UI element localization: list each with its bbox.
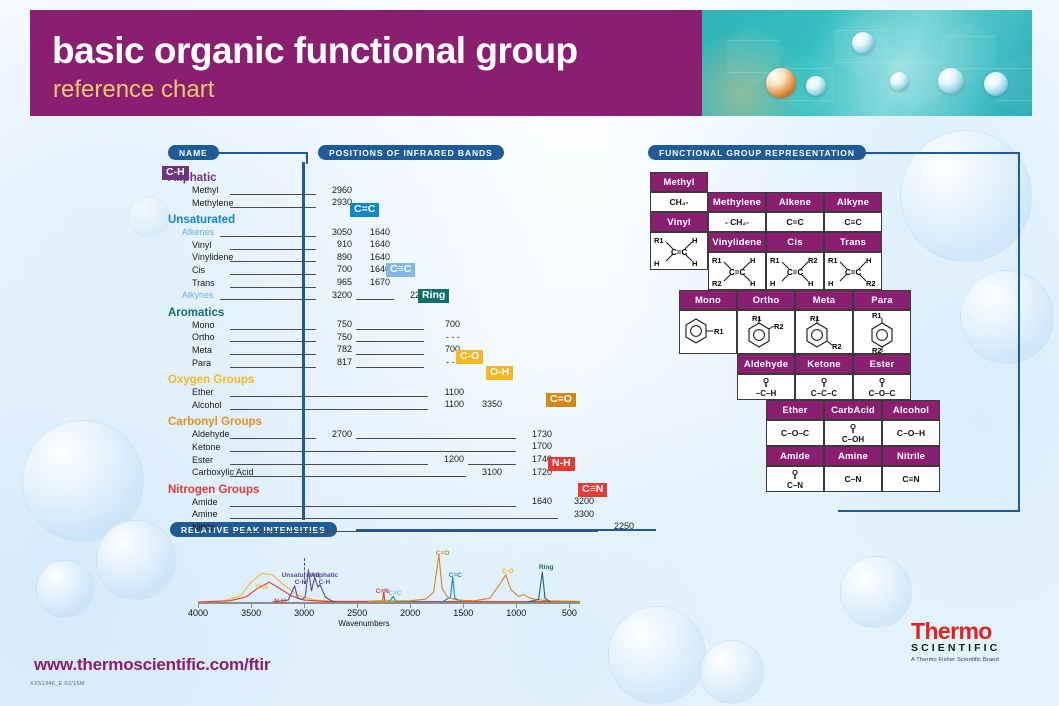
ir-badge-c_o: C=O [546,393,576,407]
spectrum-tick-label: 1500 [453,608,473,618]
svg-text:R1: R1 [752,314,762,323]
alkene-structure-icon: R1R2HHC=C [768,254,822,288]
ir-leader-line [230,194,316,195]
svg-text:H: H [750,279,755,288]
decor-bubble [22,420,144,542]
spectrum-annotation: O-H [256,584,268,591]
spectrum-tick-label: 3500 [241,608,261,618]
fg-structure-methylene: - CH₂- [708,212,766,232]
svg-text:R2: R2 [832,342,842,351]
carbonyl-base-label: C–C–C [811,389,837,398]
svg-text:H: H [692,236,697,245]
ir-leader-line [468,464,516,465]
ir-row: Vinyl9101640 [168,240,623,253]
spectrum-tick-label: 1000 [506,608,526,618]
fg-header-ketone: Ketone [795,354,853,374]
fg-struct-methyl: CH₃- [669,197,688,207]
ir-value: 700 [426,319,460,329]
spectrum-tick-label: 3000 [294,608,314,618]
ir-group-title: Unsaturated [168,213,623,227]
spectrum-tick-label: 500 [562,608,577,618]
spectrum-annotation: C-O [502,568,514,575]
svg-text:C=C: C=C [729,268,745,277]
ir-value: 817 [318,357,352,367]
ir-value: - - - [426,332,460,342]
carbonyl-base-label: C–OH [842,435,864,444]
poster-root: basic organic functional group reference… [0,0,1059,706]
aldehyde-structure-icon: O‖–C–H [756,377,776,398]
fg-struct-alkene: C=C [786,217,803,227]
fg-header-alcohol: Alcohol [882,400,940,420]
carbonyl-base-label: C–O–C [869,389,896,398]
ir-value: 1640 [356,252,390,262]
thermo-scientific-logo: Thermo SCIENTIFIC A Thermo Fisher Scient… [911,620,1031,663]
fg-structure-ether: C–O–C [766,420,824,446]
rail-ir-vertical-right [306,152,308,164]
spectrum-axis-line [198,602,580,604]
ir-group-title: Aromatics [168,306,623,320]
ir-value: 1640 [518,496,552,506]
molecule-sphere-icon [766,68,796,98]
ir-value: 3200 [318,290,352,300]
fg-header-vinyl: Vinyl [650,212,708,232]
ir-row-name: Alkynes [182,290,214,300]
fg-label-amide: Amide [780,451,810,462]
svg-text:H: H [828,279,833,288]
ketone-structure-icon: O‖C–C–C [811,377,837,398]
ir-value: 1640 [356,227,390,237]
ir-leader-line [230,518,558,519]
fg-label-meta: Meta [813,295,835,306]
brand-subname: SCIENTIFIC [911,642,1031,654]
ir-leader-line [356,341,424,342]
fg-struct-methylene: - CH₂- [725,217,749,227]
svg-text:R1: R1 [810,314,820,323]
ir-value: 3050 [318,227,352,237]
ir-value: 3100 [468,467,502,477]
ir-badge-cc2: C=C [350,203,379,217]
rail-fg-right [1018,152,1020,512]
svg-text:H: H [654,259,659,268]
ir-leader-line [230,207,316,208]
ir-bands-table: AliphaticMethyl2960Methylene2930Unsatura… [168,168,623,534]
amide-structure-icon: O‖C–N [787,469,803,490]
fg-structure-meta: R1R2 [795,310,853,354]
ir-leader-line [230,451,516,452]
ir-leader-line [230,396,428,397]
fg-label-amine: Amine [838,451,868,462]
ir-row: Methylene2930 [168,198,623,211]
ir-value: 2960 [318,185,352,195]
ir-value: 1100 [430,399,464,409]
ir-value: 700 [426,344,460,354]
fg-header-ortho: Ortho [737,290,795,310]
spectrum-annotation: C=O [436,550,450,557]
spectrum-annotation: C≡N [376,588,389,595]
ir-badge-oh: O-H [486,366,513,380]
nitrile-structure-icon: C≡N [902,474,919,484]
ir-badge-co: C-O [456,350,483,364]
ir-row-name: Para [192,358,211,368]
ir-value: 1200 [430,454,464,464]
ir-leader-line [230,261,316,262]
benzene-para-icon: R1R2 [862,310,902,354]
ir-value: 1640 [356,239,390,249]
svg-text:C=C: C=C [671,248,687,257]
ir-row-name: Vinylidene [192,252,233,262]
ir-leader-line [230,367,316,368]
ir-group-title: Carbonyl Groups [168,415,623,429]
svg-text:R2: R2 [808,256,818,265]
fg-structure-nitrile: C≡N [882,466,940,492]
ir-leader-line [230,409,428,410]
fg-structure-alkyne: C≡C [824,212,882,232]
ir-row: Nitrile2250 [168,522,623,535]
svg-text:R2: R2 [872,346,882,354]
ester-structure-icon: O‖C–O–C [869,377,896,398]
ir-row-name: Meta [192,345,212,355]
svg-text:R1: R1 [654,236,664,245]
molecule-sphere-icon [938,68,964,94]
ir-value: 750 [318,319,352,329]
spectrum-tick-label: 4000 [188,608,208,618]
fg-structure-alcohol: C–O–H [882,420,940,446]
fg-header-vinylidene: Vinylidene [708,232,766,252]
fg-structure-vinylidene: R1HR2HC=C [708,252,766,290]
decor-bubble [900,130,1032,262]
alkene-structure-icon: R1HR2HC=C [710,254,764,288]
relative-peak-intensities-chart: 4000350030002500200015001000500 Wavenumb… [168,540,598,622]
fg-structure-methyl: CH₃- [650,192,708,212]
fg-header-ether: Ether [766,400,824,420]
fg-label-para: Para [871,295,892,306]
svg-text:R1: R1 [872,311,882,320]
svg-text:H: H [692,259,697,268]
ir-leader-line [230,249,316,250]
fg-header-methyl: Methyl [650,172,708,192]
molecule-sphere-icon [806,76,826,96]
ir-value: 3200 [560,496,594,506]
ir-leader-line [220,299,316,300]
svg-text:R1: R1 [828,256,838,265]
decor-bubble [700,640,764,704]
ir-value: 700 [318,264,352,274]
ir-leader-line [230,354,316,355]
section-title-fg-representation: Functional Group Representation [648,145,866,160]
ir-value: 1700 [518,441,552,451]
ir-row-name: Ketone [192,442,221,452]
fg-label-alkene: Alkene [779,197,811,208]
page-header: basic organic functional group reference… [30,10,1032,116]
ir-row: Aldehyde27001730 [168,429,623,442]
ir-value: 890 [318,252,352,262]
ir-row: Para817- - - [168,358,623,371]
ir-row-name: Methyl [192,185,219,195]
ir-value: 2250 [600,521,634,531]
annotation-line2: C-H [311,579,338,586]
molecule-sphere-icon [984,72,1008,96]
fg-structure-ester: O‖C–O–C [853,374,911,400]
ir-leader-line [230,274,316,275]
svg-text:H: H [770,279,775,288]
fg-structure-mono: R1 [679,310,737,354]
svg-text:R1: R1 [770,256,780,265]
fg-header-amide: Amide [766,446,824,466]
fg-structure-ortho: R1R2 [737,310,795,354]
ir-leader-line [220,236,316,237]
svg-text:H: H [808,279,813,288]
spectrum-axis-label: Wavenumbers [338,619,389,628]
spectrum-3000-divider [304,558,305,584]
ir-value: 1670 [356,277,390,287]
ir-row: Meta782700 [168,345,623,358]
fg-structure-carbacid: O‖C–OH [824,420,882,446]
ir-row-name: Ester [192,455,213,465]
spectrum-annotation: AliphaticC-H [311,572,338,586]
fg-header-meta: Meta [795,290,853,310]
fg-label-methylene: Methylene [713,197,761,208]
document-code: XX51346_E 02/15M [30,681,85,687]
ir-leader-line [230,506,516,507]
ir-value: 1730 [518,429,552,439]
fg-label-vinylidene: Vinylidene [712,237,761,248]
decor-bubble [128,196,170,238]
svg-text:R2: R2 [712,279,722,288]
fg-label-nitrile: Nitrile [897,451,925,462]
spectrum-annotation: C≡C [388,590,401,597]
fg-label-ether: Ether [782,405,807,416]
ir-leader-line [230,531,598,532]
ir-leader-line [230,438,316,439]
header-teal-art [702,10,1032,116]
fg-header-methylene: Methylene [708,192,766,212]
website-url[interactable]: www.thermoscientific.com/ftir [34,655,270,675]
ir-value: 782 [318,344,352,354]
fg-header-para: Para [853,290,911,310]
rail-fg-bottom [838,510,1020,512]
ir-leader-line [356,329,424,330]
ir-value: 2930 [318,197,352,207]
ir-row: Alkenes30501640 [168,227,623,240]
fg-structure-amide: O‖C–N [766,466,824,492]
ir-row-name: Ortho [192,332,215,342]
hexagon-pattern-icon [702,10,1032,116]
benzene-ortho-icon: R1R2 [741,313,791,351]
fg-label-mono: Mono [695,295,721,306]
ir-leader-line [356,299,394,300]
fg-structure-alkene: C=C [766,212,824,232]
fg-label-trans: Trans [840,237,866,248]
decor-bubble [96,520,176,600]
ir-group-title: Nitrogen Groups [168,483,623,497]
page-subtitle: reference chart [53,78,214,102]
fg-structure-cis: R1R2HHC=C [766,252,824,290]
section-title-ir-bands: Positions of Infrared Bands [318,145,504,160]
alkene-structure-icon: R1HHHC=C [652,234,706,268]
ir-row-name: Trans [192,278,215,288]
ir-row: Ketone1700 [168,442,623,455]
carbacid-structure-icon: O‖C–OH [842,423,864,444]
fg-header-alkene: Alkene [766,192,824,212]
ir-leader-line [356,367,424,368]
svg-text:H: H [866,256,871,265]
fg-header-nitrile: Nitrile [882,446,940,466]
ir-row-name: Mono [192,320,215,330]
svg-text:R1: R1 [712,256,722,265]
ether-structure-icon: C–O–C [781,428,809,438]
ir-leader-line [356,354,424,355]
ir-group-title: Oxygen Groups [168,373,623,387]
fg-label-cis: Cis [787,237,802,248]
ir-row: Ortho750- - - [168,332,623,345]
decor-bubble [608,606,706,704]
carbonyl-base-label: –C–H [756,389,776,398]
fg-label-alcohol: Alcohol [893,405,929,416]
benzene-mono-icon: R1 [683,317,733,347]
fg-structure-aldehyde: O‖–C–H [737,374,795,400]
fg-header-amine: Amine [824,446,882,466]
ir-row-name: Alcohol [192,400,222,410]
spectrum-tick-label: 2000 [400,608,420,618]
ir-value: 1720 [518,467,552,477]
fg-structure-amine: C–N [824,466,882,492]
fg-structure-vinyl: R1HHHC=C [650,232,708,270]
ir-row-name: Vinyl [192,240,211,250]
fg-header-aldehyde: Aldehyde [737,354,795,374]
ir-leader-line [356,438,516,439]
alkene-structure-icon: R1HHR2C=C [826,254,880,288]
ir-row: Mono750700 [168,320,623,333]
ir-row-name: Methylene [192,198,234,208]
svg-text:R2: R2 [866,279,876,288]
ir-value: - - - [426,357,460,367]
fg-header-trans: Trans [824,232,882,252]
decor-bubble [36,560,94,618]
ir-row: Amine3300 [168,509,623,522]
ir-value: 965 [318,277,352,287]
ir-leader-line [230,329,316,330]
fg-label-aldehyde: Aldehyde [744,359,788,370]
spectrum-annotation: C=C [449,572,462,579]
ir-row-name: Cis [192,265,205,275]
ir-leader-line [230,476,466,477]
molecule-sphere-icon [890,72,909,91]
svg-text:R2: R2 [774,322,784,331]
fg-header-cis: Cis [766,232,824,252]
ir-row: Trans9651670 [168,278,623,291]
alcohol-structure-icon: C–O–H [897,428,925,438]
ir-value: 3300 [560,509,594,519]
ir-value: 3350 [468,399,502,409]
amine-structure-icon: C–N [844,474,861,484]
spectrum-annotation: N-H [274,598,286,605]
fg-label-alkyne: Alkyne [837,197,869,208]
section-title-name: Name [168,145,219,160]
svg-text:C=C: C=C [845,268,861,277]
rail-fg-top [862,152,1020,154]
ir-group-title: Aliphatic [168,171,623,185]
ir-value: 1100 [430,387,464,397]
brand-tagline: A Thermo Fisher Scientific Brand [911,657,1031,663]
ir-row-name: Aldehyde [192,429,230,439]
page-title: basic organic functional group [52,32,578,69]
ir-row-name: Amine [192,509,218,519]
ir-row-name: Ether [192,387,214,397]
fg-label-ortho: Ortho [753,295,780,306]
ir-badge-ring: Ring [418,289,449,303]
ir-leader-line [230,464,428,465]
ir-value: 750 [318,332,352,342]
ir-leader-line [230,341,316,342]
ir-row: Amide16403200 [168,497,623,510]
ir-row-name: Amide [192,497,218,507]
fg-header-mono: Mono [679,290,737,310]
fg-header-carbacid: CarbAcid [824,400,882,420]
ir-leader-line [230,287,316,288]
ir-badge-ch: C-H [162,166,189,180]
ir-row: Methyl2960 [168,185,623,198]
rail-name-top [216,152,308,154]
svg-text:H: H [750,256,755,265]
annotation-line1: Aliphatic [311,572,338,579]
carbonyl-base-label: C–N [787,481,803,490]
decor-bubble [960,270,1054,364]
fg-structure-para: R1R2 [853,310,911,354]
ir-row-name: Alkenes [182,227,214,237]
fg-label-carbacid: CarbAcid [831,405,875,416]
fg-struct-alkyne: C≡C [844,217,861,227]
brand-name: Thermo [911,620,1031,642]
spectrum-annotation: Ring [539,564,553,571]
fg-label-ester: Ester [870,359,895,370]
ir-value: 2700 [318,429,352,439]
ir-badge-cc3: C≡C [386,263,415,277]
ir-badge-cn: C≡N [578,483,607,497]
fg-header-ester: Ester [853,354,911,374]
svg-text:C=C: C=C [787,268,803,277]
fg-label-ketone: Ketone [807,359,840,370]
fg-label-vinyl: Vinyl [667,217,691,228]
ir-value: 910 [318,239,352,249]
spectrum-tick-label: 2500 [347,608,367,618]
benzene-meta-icon: R1R2 [799,313,849,351]
ir-value: 1740 [518,454,552,464]
ir-row-name: Nitrile [192,522,215,532]
ir-value: 1640 [356,264,390,274]
ir-row: Alkynes32002200 [168,290,623,303]
svg-text:R1: R1 [714,327,724,336]
fg-label-methyl: Methyl [663,177,694,188]
ir-badge-nh: N-H [548,457,575,471]
fg-structure-trans: R1HHR2C=C [824,252,882,290]
fg-header-alkyne: Alkyne [824,192,882,212]
decor-bubble [840,556,912,628]
molecule-sphere-icon [852,32,874,54]
fg-structure-ketone: O‖C–C–C [795,374,853,400]
